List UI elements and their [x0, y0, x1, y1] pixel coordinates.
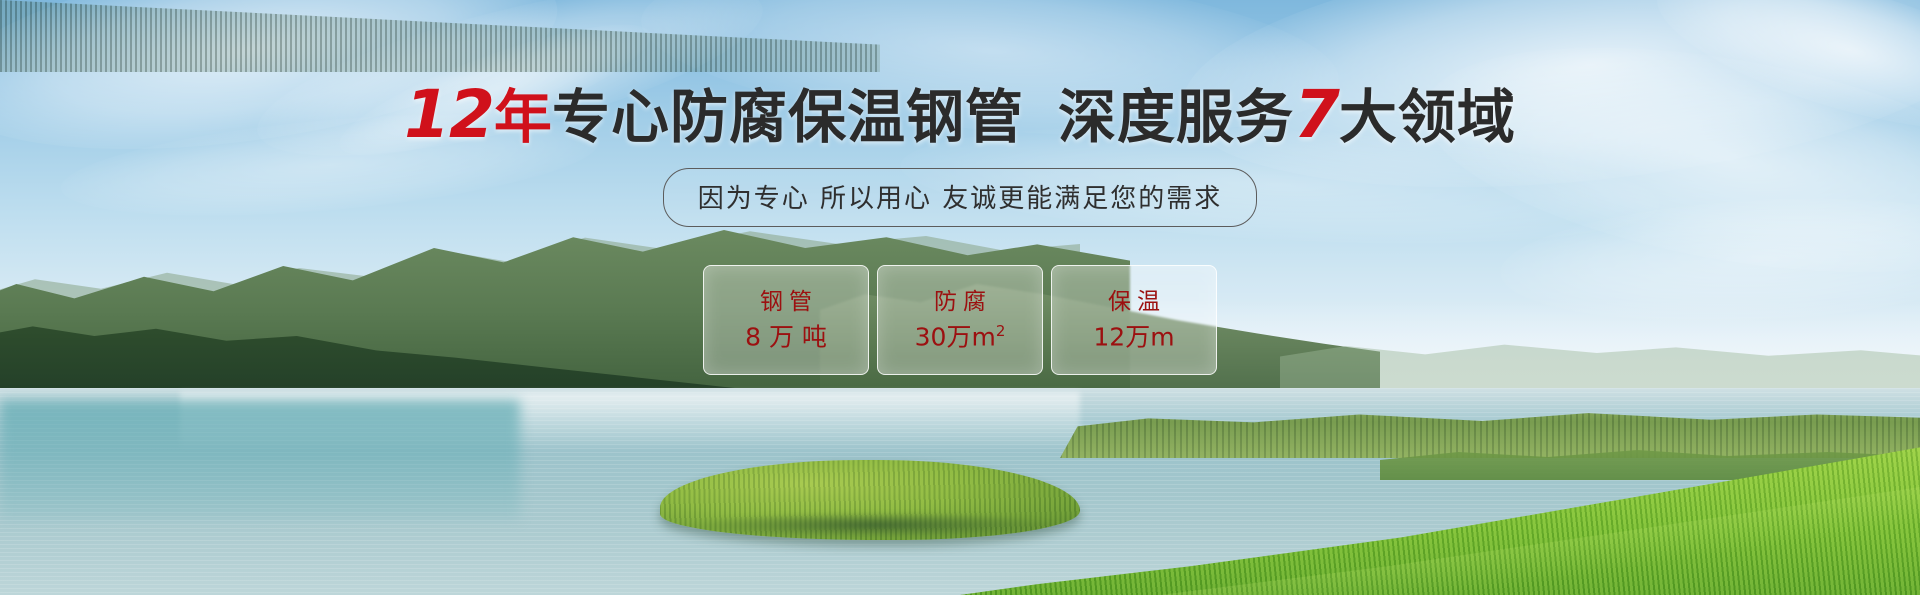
headline-year-number: 12 — [404, 76, 494, 153]
stats-card-title: 钢管 — [754, 291, 818, 314]
stats-card-value-superscript: 2 — [996, 322, 1006, 340]
stats-card-value: 30万m2 — [915, 324, 1006, 349]
stats-card-value: 12万m — [1093, 324, 1174, 349]
stats-card-value-text: 8 万 吨 — [745, 322, 827, 351]
stats-card[interactable]: 保温 12万m — [1051, 265, 1217, 375]
stats-card-value: 8 万 吨 — [745, 324, 827, 349]
stats-card-list: 钢管 8 万 吨 防腐 30万m2 保温 12万m — [0, 265, 1920, 375]
subtitle-container: 因为专心 所以用心 友诚更能满足您的需求 — [0, 168, 1920, 227]
headline-main-text: 专心防腐保温钢管 — [552, 83, 1024, 151]
hero-banner: 12年专心防腐保温钢管深度服务7大领域 因为专心 所以用心 友诚更能满足您的需求… — [0, 0, 1920, 595]
stats-card-value-text: 12万m — [1093, 322, 1174, 351]
stats-card-title: 保温 — [1102, 291, 1166, 314]
headline-second-tail: 大领域 — [1339, 83, 1516, 151]
stats-card-title: 防腐 — [928, 291, 992, 314]
headline-seven-number: 7 — [1294, 76, 1339, 153]
headline: 12年专心防腐保温钢管深度服务7大领域 — [0, 82, 1920, 148]
stats-card[interactable]: 防腐 30万m2 — [877, 265, 1043, 375]
headline-second-text: 深度服务 — [1058, 83, 1294, 151]
banner-content: 12年专心防腐保温钢管深度服务7大领域 因为专心 所以用心 友诚更能满足您的需求… — [0, 0, 1920, 595]
subtitle-pill: 因为专心 所以用心 友诚更能满足您的需求 — [663, 168, 1258, 227]
headline-year-unit: 年 — [494, 83, 552, 151]
stats-card[interactable]: 钢管 8 万 吨 — [703, 265, 869, 375]
stats-card-value-text: 30万m — [915, 322, 996, 351]
